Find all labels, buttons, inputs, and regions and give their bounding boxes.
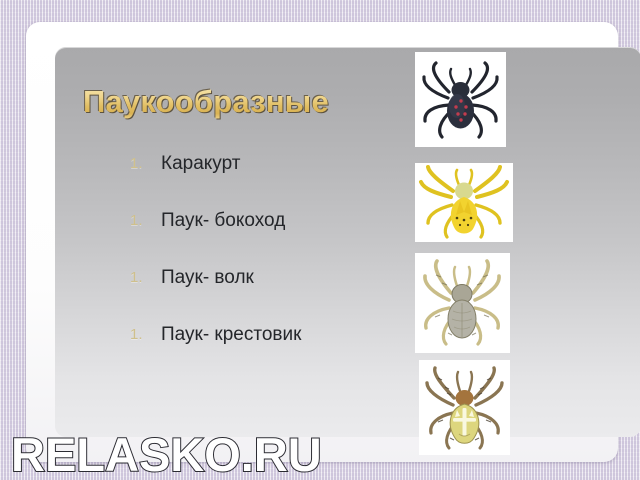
- spider-wolf-illustration: [415, 253, 510, 353]
- spider-cross-illustration: [419, 360, 510, 455]
- list-item[interactable]: 1. Паук- волк: [130, 266, 410, 323]
- spider-crab-illustration: [415, 163, 513, 242]
- list-item-label: Паук- волк: [161, 266, 254, 289]
- list-item-marker: 1.: [130, 323, 161, 346]
- spider-list: 1. Каракурт 1. Паук- бокоход 1. Паук- во…: [130, 152, 410, 380]
- list-item[interactable]: 1. Паук- крестовик: [130, 323, 410, 380]
- list-item-label: Паук- бокоход: [161, 209, 285, 232]
- watermark-text: RELASKO.RU: [11, 430, 322, 480]
- list-item-label: Паук- крестовик: [161, 323, 301, 346]
- slide-root: Паукообразные 1. Каракурт 1. Паук- бокох…: [0, 0, 640, 480]
- slide-content-card: Паукообразные 1. Каракурт 1. Паук- бокох…: [26, 22, 618, 462]
- list-item-marker: 1.: [130, 266, 161, 289]
- spider-crab-photo[interactable]: [415, 163, 513, 242]
- spider-karakurt-photo[interactable]: [415, 52, 506, 147]
- spider-cross-photo[interactable]: [419, 360, 510, 455]
- spider-karakurt-illustration: [415, 52, 506, 147]
- list-item-marker: 1.: [130, 209, 161, 232]
- page-title: Паукообразные: [83, 84, 329, 120]
- list-item-label: Каракурт: [161, 152, 240, 175]
- spider-wolf-photo[interactable]: [415, 253, 510, 353]
- list-item[interactable]: 1. Паук- бокоход: [130, 209, 410, 266]
- list-item[interactable]: 1. Каракурт: [130, 152, 410, 209]
- list-item-marker: 1.: [130, 152, 161, 175]
